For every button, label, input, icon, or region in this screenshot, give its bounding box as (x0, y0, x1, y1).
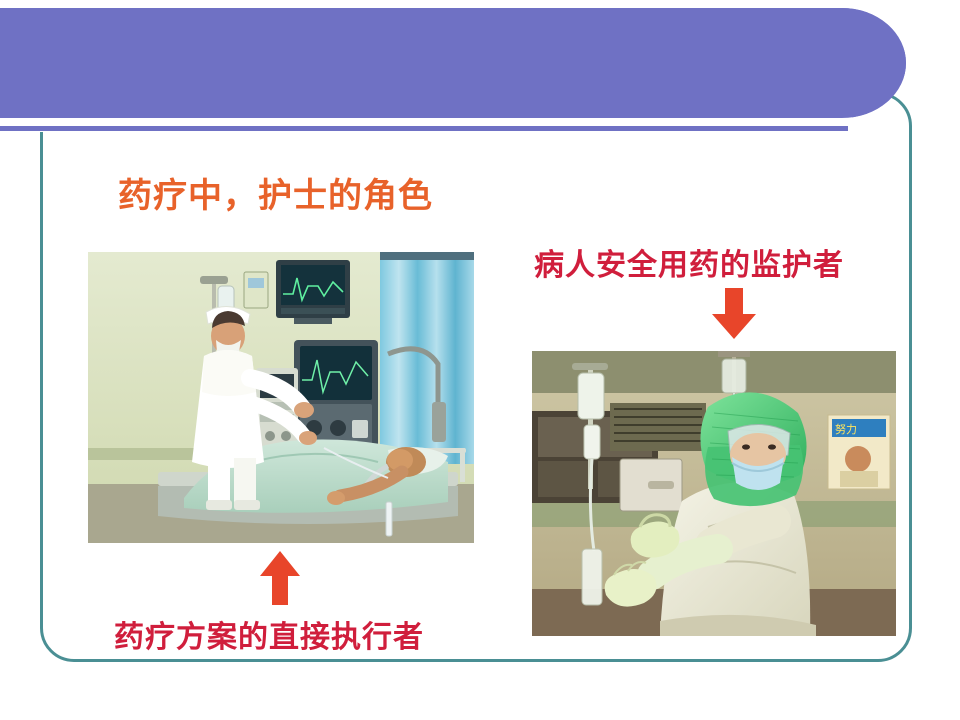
header-banner-overlay (0, 8, 906, 118)
photo-nurse-icu (88, 252, 474, 543)
header-divider-line (0, 126, 848, 131)
right-caption: 病人安全用药的监护者 (534, 240, 844, 284)
bottom-caption: 药疗方案的直接执行者 (114, 612, 424, 656)
photo-nurse-protective-gear: 努力 (532, 351, 896, 636)
arrow-up-icon (258, 550, 302, 610)
arrow-down-icon (710, 288, 758, 344)
page-title: 药疗中，护士的角色 (118, 168, 433, 217)
slide-canvas: 药疗中，护士的角色 (0, 0, 960, 720)
svg-text:努力: 努力 (835, 422, 857, 436)
